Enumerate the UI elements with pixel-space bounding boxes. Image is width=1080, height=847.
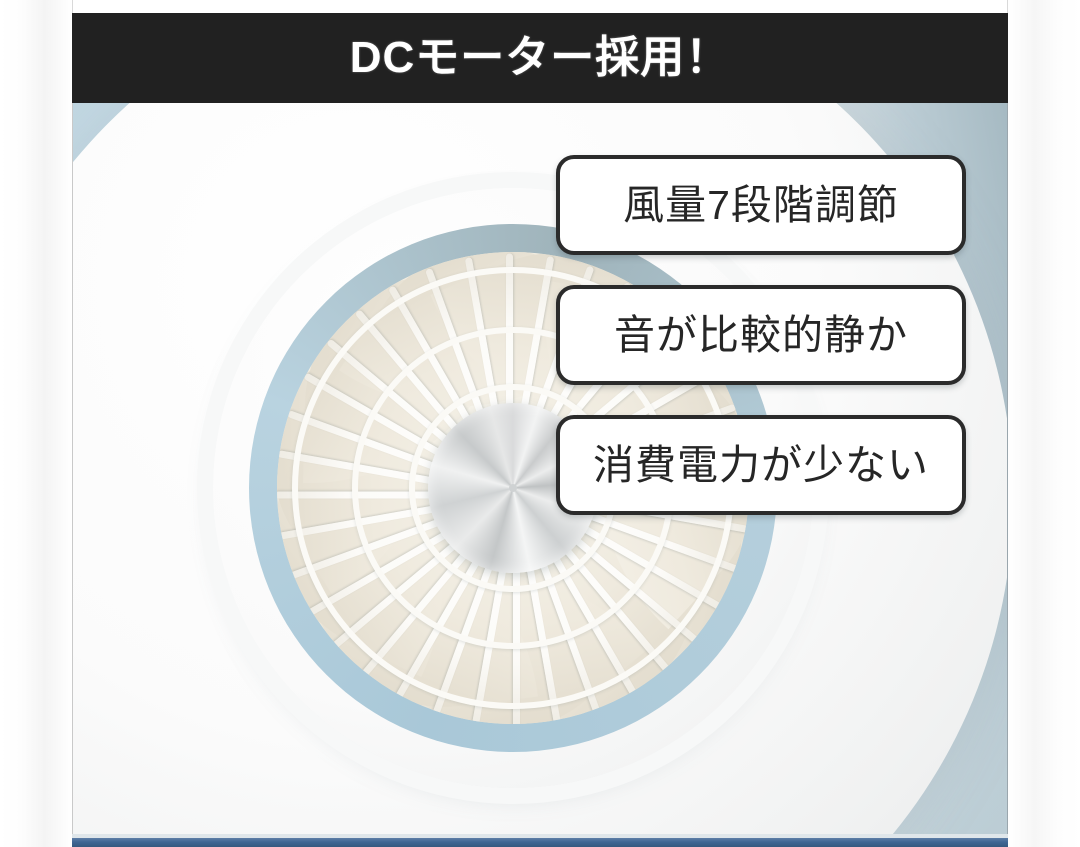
- feature-callout-2-label: 音が比較的静か: [614, 315, 908, 356]
- footer-accent-bar: [72, 838, 1008, 847]
- feature-callout-2: 音が比較的静か: [556, 285, 966, 385]
- feature-callout-3: 消費電力が少ない: [556, 415, 966, 515]
- product-detail-page: DCモーター採用！ 風量7段階調節 音が比較的静か: [0, 0, 1080, 847]
- product-photo: 風量7段階調節 音が比較的静か 消費電力が少ない: [72, 103, 1008, 838]
- page-margin-right: [1007, 0, 1080, 847]
- headline-text: DCモーター採用！: [350, 36, 731, 80]
- feature-callout-list: 風量7段階調節 音が比較的静か 消費電力が少ない: [556, 155, 966, 545]
- page-margin-left: [0, 0, 72, 847]
- content-top-strip: [72, 0, 1008, 13]
- feature-callout-1-label: 風量7段階調節: [623, 185, 899, 226]
- headline-banner: DCモーター採用！: [72, 13, 1008, 103]
- feature-callout-3-label: 消費電力が少ない: [593, 445, 929, 486]
- feature-callout-1: 風量7段階調節: [556, 155, 966, 255]
- fan-hub-center-dot: [509, 484, 517, 492]
